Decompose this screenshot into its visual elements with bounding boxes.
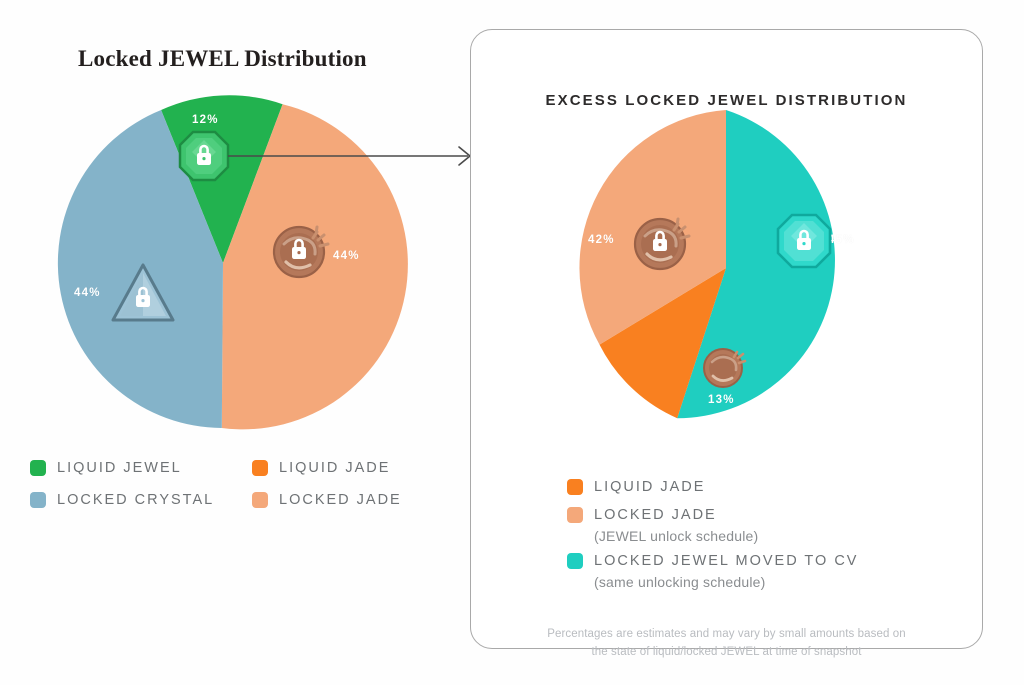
legend-label-locked-crystal: LOCKED CRYSTAL [57, 492, 214, 508]
liquid-jade-coin-icon [701, 344, 749, 390]
left-chart-panel: Locked JEWEL Distribution 12% 44% 44% [0, 0, 460, 685]
legend-item-liquid-jade[interactable]: LIQUID JADE [567, 474, 967, 500]
legend-label-locked-jewel-cv: LOCKED JEWEL MOVED TO CV [594, 548, 858, 574]
legend-swatch-liquid-jade [252, 460, 268, 476]
legend-swatch-locked-jade [567, 507, 583, 523]
legend-swatch-liquid-jade [567, 479, 583, 495]
legend-label-liquid-jade: LIQUID JADE [594, 474, 705, 500]
legend-item-liquid-jewel[interactable]: LIQUID JEWEL [30, 460, 252, 476]
locked-jewel-gem-icon [178, 130, 230, 182]
pie-label-locked-jade: 42% [588, 234, 615, 246]
pie-label-locked-crystal: 44% [74, 287, 101, 299]
locked-jade-coin-icon [270, 222, 332, 280]
legend-sublabel-locked-jade: (JEWEL unlock schedule) [594, 526, 758, 546]
pie-label-liquid-jewel: 12% [192, 114, 219, 126]
legend-swatch-liquid-jewel [30, 460, 46, 476]
left-legend: LIQUID JEWEL LIQUID JADE LOCKED CRYSTAL … [30, 452, 452, 516]
page-title: Locked JEWEL Distribution [78, 46, 367, 72]
connector-arrow [228, 138, 476, 174]
footnote-line-2: the state of liquid/locked JEWEL at time… [511, 643, 942, 661]
legend-sublabel-locked-jewel-cv: (same unlocking schedule) [594, 572, 858, 592]
locked-crystal-triangle-icon [110, 262, 176, 324]
right-legend: LIQUID JADE LOCKED JADE (JEWEL unlock sc… [567, 474, 967, 594]
legend-item-locked-crystal[interactable]: LOCKED CRYSTAL [30, 492, 252, 508]
locked-jade-coin-icon [631, 214, 693, 272]
pie-label-liquid-jade: 13% [708, 394, 735, 406]
legend-label-locked-jade: LOCKED JADE [279, 492, 402, 508]
legend-item-locked-jewel-cv[interactable]: LOCKED JEWEL MOVED TO CV (same unlocking… [567, 548, 967, 592]
pie-label-locked-jade: 44% [333, 250, 360, 262]
locked-jewel-gem-icon [776, 213, 832, 269]
legend-item-locked-jade[interactable]: LOCKED JADE (JEWEL unlock schedule) [567, 502, 967, 546]
infographic-root: Locked JEWEL Distribution 12% 44% 44% [0, 0, 1024, 685]
footnote-line-1: Percentages are estimates and may vary b… [511, 625, 942, 643]
footnote: Percentages are estimates and may vary b… [511, 625, 942, 661]
legend-swatch-locked-jewel-cv [567, 553, 583, 569]
legend-label-liquid-jade: LIQUID JADE [279, 460, 390, 476]
legend-swatch-locked-crystal [30, 492, 46, 508]
legend-swatch-locked-jade [252, 492, 268, 508]
card-title: EXCESS LOCKED JEWEL DISTRIBUTION [471, 92, 982, 109]
legend-item-liquid-jade[interactable]: LIQUID JADE [252, 460, 452, 476]
legend-label-locked-jade: LOCKED JADE [594, 502, 758, 528]
legend-label-liquid-jewel: LIQUID JEWEL [57, 460, 182, 476]
legend-item-locked-jade[interactable]: LOCKED JADE [252, 492, 452, 508]
excess-locked-jewel-pie: 45% 42% 13% [568, 110, 884, 426]
